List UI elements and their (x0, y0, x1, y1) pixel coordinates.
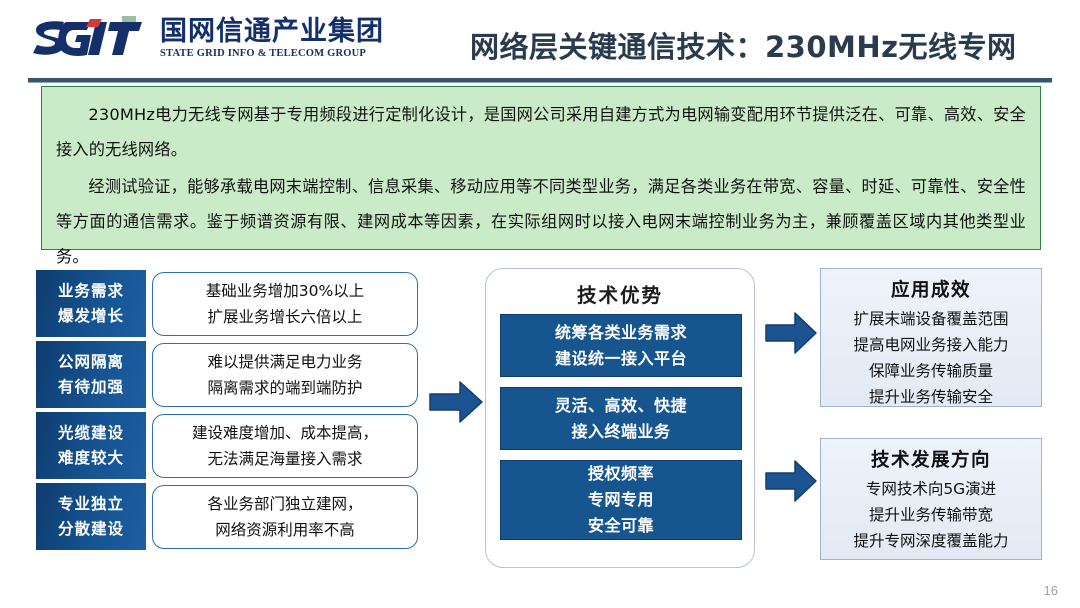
outcome-line: 专网技术向5G演进 (827, 476, 1035, 502)
pain-point-card: 基础业务增加30%以上 扩展业务增长六倍以上 (152, 272, 418, 336)
pain-tag-line-2: 爆发增长 (58, 304, 124, 329)
advantage-line-1: 授权频率 (588, 461, 654, 487)
pain-tag-line-1: 专业独立 (58, 492, 124, 517)
pain-point-tag: 公网隔离 有待加强 (36, 341, 146, 408)
slide-root: 国网信通产业集团 STATE GRID INFO & TELECOM GROUP… (0, 0, 1080, 608)
outcome-heading: 技术发展方向 (827, 447, 1035, 475)
arrow-right-icon (764, 458, 818, 504)
outcome-card-application-results: 应用成效 扩展末端设备覆盖范围 提高电网业务接入能力 保障业务传输质量 提升业务… (820, 268, 1042, 407)
advantage-line-3: 安全可靠 (588, 513, 654, 539)
slide-header: 国网信通产业集团 STATE GRID INFO & TELECOM GROUP… (0, 0, 1080, 82)
advantage-line-2: 接入终端业务 (571, 419, 670, 445)
pain-desc-line-1: 各业务部门独立建网， (207, 491, 362, 517)
summary-panel: 230MHz电力无线专网基于专用频段进行定制化设计，是国网公司采用自建方式为电网… (41, 86, 1041, 250)
arrow-right-icon (764, 310, 818, 356)
advantage-item: 授权频率 专网专用 安全可靠 (500, 460, 742, 540)
pain-point-tag: 业务需求 爆发增长 (36, 270, 146, 337)
pain-point-row: 业务需求 爆发增长 基础业务增加30%以上 扩展业务增长六倍以上 (36, 270, 416, 337)
company-name-block: 国网信通产业集团 STATE GRID INFO & TELECOM GROUP (160, 18, 384, 60)
arrow-right-icon (428, 378, 484, 426)
pain-tag-line-2: 有待加强 (58, 375, 124, 400)
outcome-line: 提升专网深度覆盖能力 (827, 528, 1035, 554)
pain-desc-line-1: 建设难度增加、成本提高， (192, 420, 378, 446)
advantage-item: 统筹各类业务需求 建设统一接入平台 (500, 314, 742, 377)
outcome-line: 扩展末端设备覆盖范围 (827, 306, 1035, 332)
pain-desc-line-2: 隔离需求的端到端防护 (207, 375, 362, 401)
pain-desc-line-1: 基础业务增加30%以上 (206, 278, 364, 304)
pain-point-card: 各业务部门独立建网， 网络资源利用率不高 (152, 485, 418, 549)
pain-point-row: 公网隔离 有待加强 难以提供满足电力业务 隔离需求的端到端防护 (36, 341, 416, 408)
outcome-line: 提升业务传输安全 (827, 384, 1035, 410)
outcome-heading: 应用成效 (827, 277, 1035, 305)
company-logo: 国网信通产业集团 STATE GRID INFO & TELECOM GROUP (30, 16, 384, 62)
pain-point-tag: 光缆建设 难度较大 (36, 412, 146, 479)
outcome-card-tech-direction: 技术发展方向 专网技术向5G演进 提升业务传输带宽 提升专网深度覆盖能力 (820, 438, 1042, 560)
summary-paragraph-1: 230MHz电力无线专网基于专用频段进行定制化设计，是国网公司采用自建方式为电网… (56, 97, 1026, 167)
outcome-line: 保障业务传输质量 (827, 358, 1035, 384)
pain-point-card: 建设难度增加、成本提高， 无法满足海量接入需求 (152, 414, 418, 478)
advantage-line-2: 建设统一接入平台 (555, 346, 687, 372)
page-title: 网络层关键通信技术：230MHz无线专网 (470, 24, 1060, 66)
pain-tag-line-1: 光缆建设 (58, 421, 124, 446)
advantages-list: 统筹各类业务需求 建设统一接入平台 灵活、高效、快捷 接入终端业务 授权频率 专… (500, 314, 742, 550)
diagram-area: 业务需求 爆发增长 基础业务增加30%以上 扩展业务增长六倍以上 公网隔离 有待… (0, 258, 1080, 578)
advantage-line-1: 灵活、高效、快捷 (555, 393, 687, 419)
pain-desc-line-1: 难以提供满足电力业务 (207, 349, 362, 375)
pain-point-row: 光缆建设 难度较大 建设难度增加、成本提高， 无法满足海量接入需求 (36, 412, 416, 479)
advantage-item: 灵活、高效、快捷 接入终端业务 (500, 387, 742, 450)
pain-tag-line-1: 公网隔离 (58, 350, 124, 375)
outcome-line: 提升业务传输带宽 (827, 502, 1035, 528)
advantages-title: 技术优势 (486, 279, 754, 308)
pain-desc-line-2: 扩展业务增长六倍以上 (207, 304, 362, 330)
header-divider (28, 78, 1052, 83)
pain-point-list: 业务需求 爆发增长 基础业务增加30%以上 扩展业务增长六倍以上 公网隔离 有待… (36, 270, 416, 554)
company-name-en: STATE GRID INFO & TELECOM GROUP (160, 49, 366, 60)
pain-desc-line-2: 网络资源利用率不高 (215, 517, 355, 543)
advantage-line-2: 专网专用 (588, 487, 654, 513)
pain-tag-line-2: 难度较大 (58, 446, 124, 471)
pain-point-tag: 专业独立 分散建设 (36, 483, 146, 550)
pain-point-card: 难以提供满足电力业务 隔离需求的端到端防护 (152, 343, 418, 407)
pain-tag-line-2: 分散建设 (58, 517, 124, 542)
sgit-logo-icon (30, 16, 150, 62)
pain-point-row: 专业独立 分散建设 各业务部门独立建网， 网络资源利用率不高 (36, 483, 416, 550)
advantages-panel: 技术优势 统筹各类业务需求 建设统一接入平台 灵活、高效、快捷 接入终端业务 授… (485, 268, 755, 568)
advantage-line-1: 统筹各类业务需求 (555, 320, 687, 346)
pain-desc-line-2: 无法满足海量接入需求 (207, 446, 362, 472)
company-name-cn: 国网信通产业集团 (160, 18, 384, 45)
pain-tag-line-1: 业务需求 (58, 279, 124, 304)
outcome-line: 提高电网业务接入能力 (827, 332, 1035, 358)
page-number: 16 (1044, 583, 1058, 598)
